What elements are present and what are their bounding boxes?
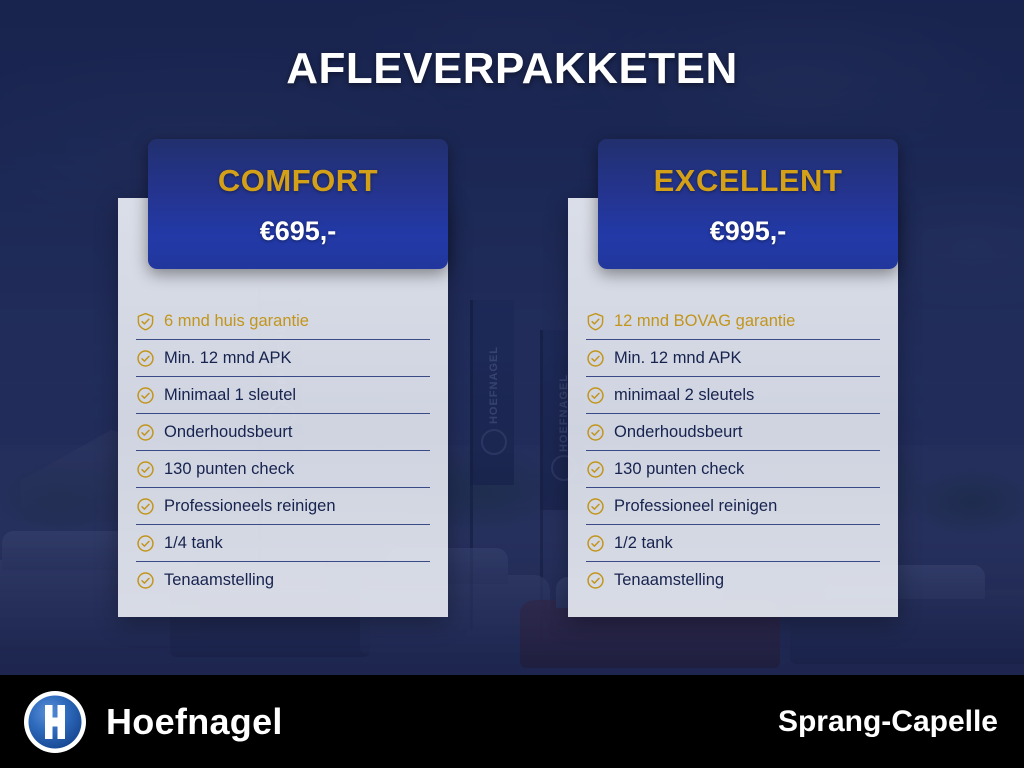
feature-label: 1/2 tank (614, 535, 673, 552)
feature-label: Professioneels reinigen (164, 498, 336, 515)
feature-label: 12 mnd BOVAG garantie (614, 313, 795, 330)
feature-row: minimaal 2 sleutels (586, 377, 880, 414)
circle-check-icon (136, 460, 155, 479)
circle-check-icon (136, 497, 155, 516)
feature-label: 6 mnd huis garantie (164, 313, 309, 330)
circle-check-icon (136, 349, 155, 368)
feature-label: Tenaamstelling (164, 572, 274, 589)
feature-row: Professioneel reinigen (586, 488, 880, 525)
feature-label: Min. 12 mnd APK (164, 350, 291, 367)
advertisement-slide: HOEFNAGEL HOEFNAGEL HOEFNAGEL AFLEVERPAK… (0, 0, 1024, 768)
package-price: €995,- (598, 216, 898, 247)
feature-label: Professioneel reinigen (614, 498, 777, 515)
feature-label: Onderhoudsbeurt (614, 424, 742, 441)
feature-label: 1/4 tank (164, 535, 223, 552)
page-title: AFLEVERPAKKETEN (0, 44, 1024, 94)
feature-row: 6 mnd huis garantie (136, 303, 430, 340)
feature-list: 6 mnd huis garantie Min. 12 mnd APK Mini… (118, 303, 448, 599)
circle-check-icon (586, 349, 605, 368)
feature-label: 130 punten check (614, 461, 744, 478)
feature-row: Tenaamstelling (586, 562, 880, 599)
feature-row: Onderhoudsbeurt (586, 414, 880, 451)
feature-row: Min. 12 mnd APK (586, 340, 880, 377)
brand-name: Hoefnagel (106, 701, 283, 743)
feature-row: Professioneels reinigen (136, 488, 430, 525)
package-name: EXCELLENT (598, 163, 898, 199)
feature-list: 12 mnd BOVAG garantie Min. 12 mnd APK mi… (568, 303, 898, 599)
circle-check-icon (586, 497, 605, 516)
feature-label: Tenaamstelling (614, 572, 724, 589)
shield-check-icon (136, 312, 155, 331)
feature-label: minimaal 2 sleutels (614, 387, 754, 404)
shield-check-icon (586, 312, 605, 331)
feature-row: Onderhoudsbeurt (136, 414, 430, 451)
circle-check-icon (136, 423, 155, 442)
circle-check-icon (136, 386, 155, 405)
feature-row: 12 mnd BOVAG garantie (586, 303, 880, 340)
feature-row: 1/4 tank (136, 525, 430, 562)
circle-check-icon (136, 571, 155, 590)
hoefnagel-logo-icon (22, 689, 88, 755)
feature-row: Tenaamstelling (136, 562, 430, 599)
package-price: €695,- (148, 216, 448, 247)
feature-row: 130 punten check (586, 451, 880, 488)
package-name: COMFORT (148, 163, 448, 199)
feature-label: Min. 12 mnd APK (614, 350, 741, 367)
circle-check-icon (586, 460, 605, 479)
feature-label: Minimaal 1 sleutel (164, 387, 296, 404)
package-header-comfort: COMFORT €695,- (148, 139, 448, 269)
feature-row: 130 punten check (136, 451, 430, 488)
feature-label: 130 punten check (164, 461, 294, 478)
circle-check-icon (586, 423, 605, 442)
circle-check-icon (586, 386, 605, 405)
footer-bar: Hoefnagel Sprang-Capelle (0, 675, 1024, 768)
feature-row: Min. 12 mnd APK (136, 340, 430, 377)
package-header-excellent: EXCELLENT €995,- (598, 139, 898, 269)
circle-check-icon (586, 534, 605, 553)
feature-row: 1/2 tank (586, 525, 880, 562)
feature-label: Onderhoudsbeurt (164, 424, 292, 441)
feature-row: Minimaal 1 sleutel (136, 377, 430, 414)
circle-check-icon (136, 534, 155, 553)
circle-check-icon (586, 571, 605, 590)
location-label: Sprang-Capelle (778, 705, 998, 739)
